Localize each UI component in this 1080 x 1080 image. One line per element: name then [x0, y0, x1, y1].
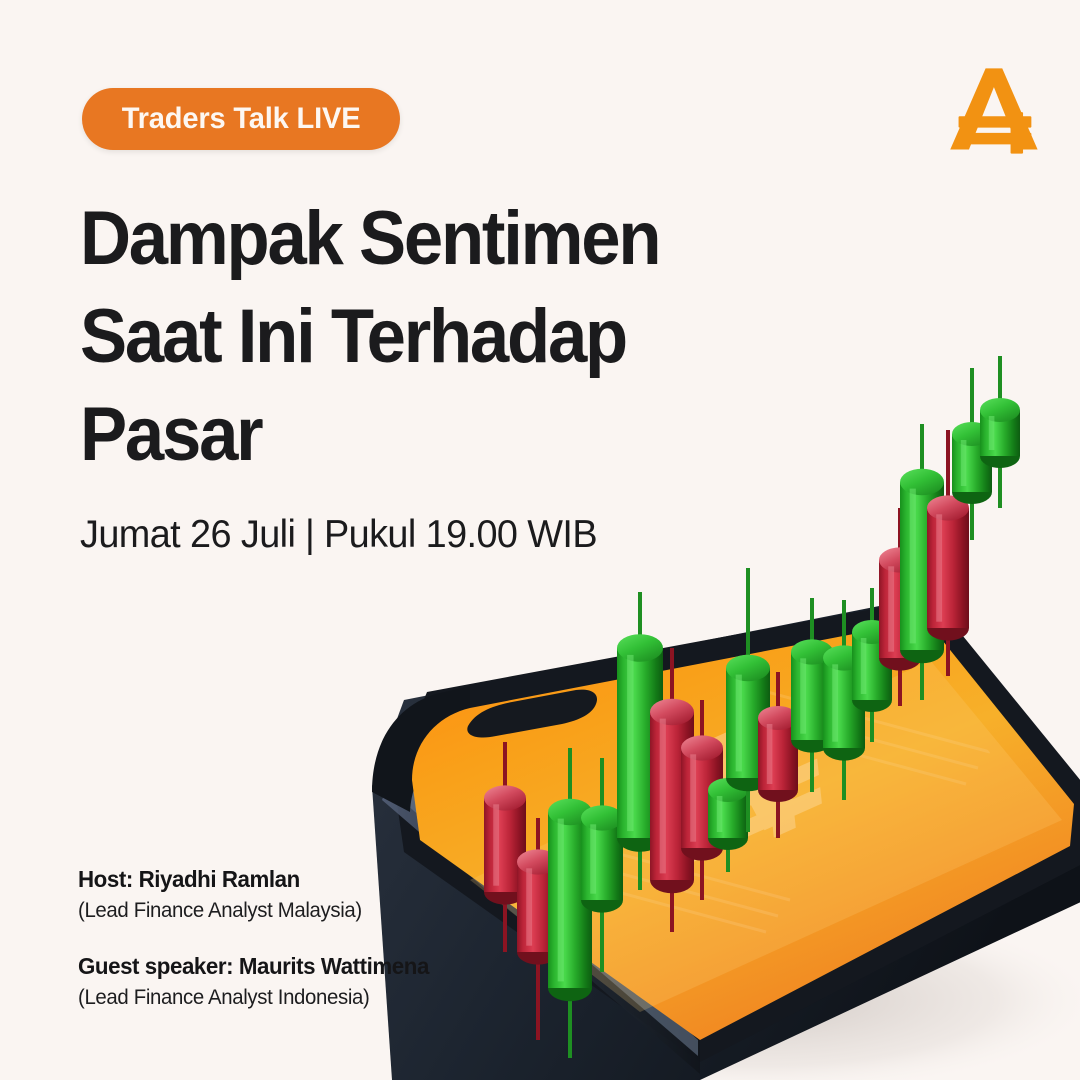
- brand-a-logo-icon: [944, 58, 1048, 162]
- datetime-separator: |: [295, 513, 324, 556]
- headline-line-3: Pasar: [80, 386, 750, 484]
- speaker-credits: Host: Riyadhi Ramlan (Lead Finance Analy…: [78, 866, 548, 1010]
- event-time: Pukul 19.00 WIB: [324, 513, 597, 556]
- event-datetime: Jumat 26 Juli|Pukul 19.00 WIB: [80, 513, 597, 557]
- credit-host: Host: Riyadhi Ramlan (Lead Finance Analy…: [78, 866, 548, 923]
- credit-guest: Guest speaker: Maurits Wattimena (Lead F…: [78, 953, 548, 1010]
- headline-line-2: Saat Ini Terhadap: [80, 288, 750, 386]
- poster-canvas: Traders Talk LIVE Dampak Sentimen Saat I…: [0, 0, 1080, 1080]
- live-badge-label: Traders Talk LIVE: [122, 102, 361, 136]
- credit-host-name: Host: Riyadhi Ramlan: [78, 866, 534, 893]
- credit-guest-name: Guest speaker: Maurits Wattimena: [78, 953, 534, 980]
- headline-line-1: Dampak Sentimen: [80, 190, 750, 288]
- page-title: Dampak Sentimen Saat Ini Terhadap Pasar: [80, 190, 800, 484]
- credit-guest-role: (Lead Finance Analyst Indonesia): [78, 986, 534, 1010]
- live-badge[interactable]: Traders Talk LIVE: [82, 88, 400, 150]
- credit-host-role: (Lead Finance Analyst Malaysia): [78, 899, 534, 923]
- event-date: Jumat 26 Juli: [80, 513, 295, 556]
